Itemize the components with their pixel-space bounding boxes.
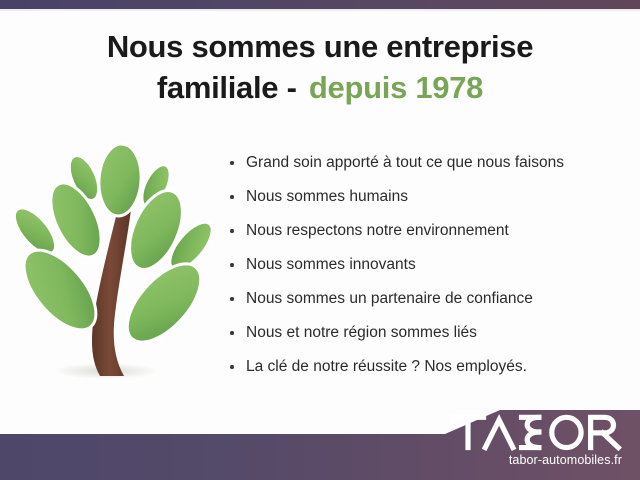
list-item-label: Grand soin apporté à tout ce que nous fa…: [246, 154, 564, 171]
list-item: Nous respectons notre environnement: [228, 214, 628, 248]
list-item: Nous et notre région sommes liés: [228, 316, 628, 350]
list-item-label: Nous sommes un partenaire de confiance: [246, 290, 533, 307]
list-item: Nous sommes innovants: [228, 248, 628, 282]
list-item: Nous sommes un partenaire de confiance: [228, 282, 628, 316]
headline-line-1: Nous sommes une entreprise: [0, 26, 640, 67]
list-item: Grand soin apporté à tout ce que nous fa…: [228, 146, 628, 180]
bullet-dot-icon: [230, 331, 234, 335]
tree-illustration: [8, 138, 218, 390]
bullet-dot-icon: [230, 297, 234, 301]
benefits-list: Grand soin apporté à tout ce que nous fa…: [228, 146, 628, 384]
headline-accent-since-1978: depuis 1978: [309, 70, 483, 105]
list-item-label: Nous sommes innovants: [246, 256, 416, 273]
list-item-label: Nous respectons notre environnement: [246, 222, 509, 239]
bullet-dot-icon: [230, 229, 234, 233]
headline-line-2-prefix: familiale -: [157, 67, 301, 108]
slide-canvas: Nous sommes une entreprise familiale - d…: [0, 0, 640, 480]
bullet-dot-icon: [230, 195, 234, 199]
brand-wordmark-tabor: [402, 412, 622, 452]
list-item-label: Nous et notre région sommes liés: [246, 324, 477, 341]
top-accent-bar: [0, 0, 640, 9]
brand-logo[interactable]: tabor-automobiles.fr: [402, 412, 622, 467]
bullet-dot-icon: [230, 263, 234, 267]
page-title: Nous sommes une entreprise familiale - d…: [0, 26, 640, 108]
headline-line-2: familiale - depuis 1978: [0, 67, 640, 108]
top-accent-hairline: [0, 9, 640, 11]
list-item-label: Nous sommes humains: [246, 188, 408, 205]
list-item-label: La clé de notre réussite ? Nos employés.: [246, 358, 527, 375]
list-item: La clé de notre réussite ? Nos employés.: [228, 350, 628, 384]
bullet-dot-icon: [230, 161, 234, 165]
brand-url[interactable]: tabor-automobiles.fr: [402, 453, 622, 467]
list-item: Nous sommes humains: [228, 180, 628, 214]
bullet-dot-icon: [230, 365, 234, 369]
